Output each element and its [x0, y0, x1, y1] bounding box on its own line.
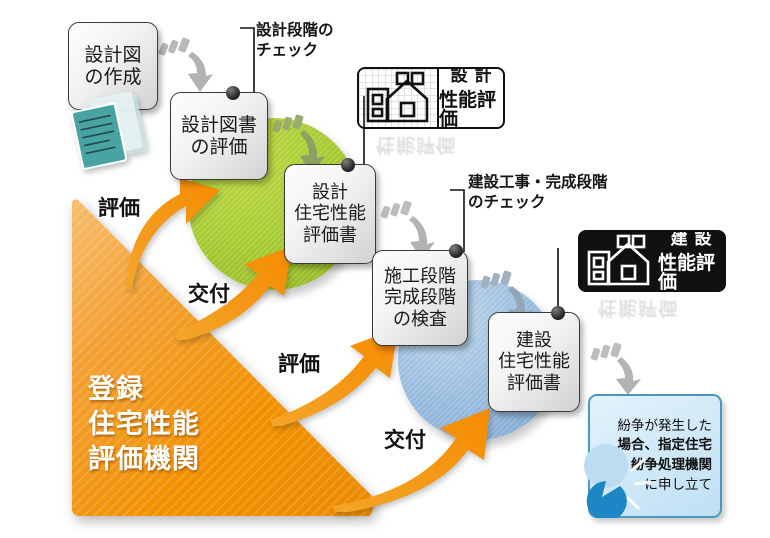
- box-design-cert-line-1: 設計: [294, 182, 366, 203]
- box-inspection-line-2: 完成段階: [384, 287, 456, 308]
- arrow-issue-construction-cert: [330, 400, 510, 512]
- construction-badge-reflection: 性能評価: [598, 296, 678, 323]
- box-construction-cert-line-2: 住宅性能: [498, 351, 570, 372]
- box-construction-housing-performance-certificate[interactable]: 建設 住宅性能 評価書: [488, 312, 580, 412]
- box-construction-inspection[interactable]: 施工段階 完成段階 の検査: [372, 250, 468, 346]
- box-construction-cert-line-1: 建設: [498, 330, 570, 351]
- leader-design-badge: [358, 96, 370, 168]
- design-badge-top: 設計: [444, 68, 499, 85]
- verb-issue-design-cert: 交付: [188, 278, 230, 308]
- verb-evaluate-construction: 評価: [278, 348, 320, 378]
- box-construction-cert-line-3: 評価書: [498, 373, 570, 394]
- construction-performance-evaluation-badge: 建設 性能評価: [578, 230, 726, 292]
- org-line-3: 評価機関: [88, 442, 200, 477]
- dispute-line-1: 紛争が発生した: [618, 417, 713, 437]
- construction-badge-house-icon: [580, 232, 658, 290]
- box-design-cert-line-3: 評価書: [294, 225, 366, 246]
- design-badge-bottom: 性能評価: [439, 91, 503, 129]
- box-design-drawing-line-2: の作成: [84, 66, 141, 88]
- callout-design-line-2: チェック: [256, 40, 334, 60]
- dot-design-cert: [341, 158, 355, 172]
- box-inspection-line-3: の検査: [384, 309, 456, 330]
- box-design-cert-line-2: 住宅性能: [294, 203, 366, 224]
- org-line-2: 住宅性能: [88, 407, 200, 442]
- design-documents-icon: [62, 92, 158, 178]
- design-badge-house-icon: [359, 69, 439, 127]
- motion-arrow-drawing-to-doc-eval: [158, 36, 214, 96]
- design-badge-reflection: 性能評価: [376, 133, 456, 160]
- verb-issue-construction-cert: 交付: [384, 424, 426, 454]
- callout-const-line-2: のチェック: [468, 192, 608, 212]
- motion-arrow-construction-cert-to-dispute: [590, 340, 646, 398]
- construction-badge-bottom: 性能評価: [658, 254, 724, 292]
- box-design-doc-eval-line-1: 設計図書: [181, 114, 257, 136]
- design-performance-evaluation-badge: 設計 性能評価: [357, 67, 505, 129]
- box-design-doc-evaluation[interactable]: 設計図書 の評価: [170, 92, 268, 180]
- callout-design-stage-check: 設計段階の チェック: [256, 20, 334, 60]
- construction-badge-top: 建設: [664, 231, 719, 248]
- design-badge-text: 設計 性能評価: [439, 69, 503, 127]
- org-line-1: 登録: [88, 372, 200, 407]
- dot-inspection: [449, 244, 463, 258]
- box-inspection-line-1: 施工段階: [384, 266, 456, 287]
- callout-const-line-1: 建設工事・完成段階: [468, 172, 608, 192]
- construction-badge-text: 建設 性能評価: [658, 232, 724, 290]
- box-design-doc-eval-line-2: の評価: [181, 136, 257, 158]
- diagram-canvas: 登録 住宅性能 評価機関: [0, 0, 770, 538]
- callout-construction-stage-check: 建設工事・完成段階 のチェック: [468, 172, 608, 212]
- leader-design-stage-check: [236, 22, 258, 96]
- dot-design-doc-eval: [226, 86, 240, 100]
- registered-evaluation-body-label: 登録 住宅性能 評価機関: [88, 372, 200, 477]
- box-design-housing-performance-certificate[interactable]: 設計 住宅性能 評価書: [284, 164, 376, 264]
- verb-evaluate-design: 評価: [98, 192, 140, 222]
- box-design-drawing-line-1: 設計図: [84, 44, 141, 66]
- dot-construction-cert: [551, 306, 565, 320]
- callout-design-line-1: 設計段階の: [256, 20, 334, 40]
- dispute-click-icon: [580, 442, 656, 518]
